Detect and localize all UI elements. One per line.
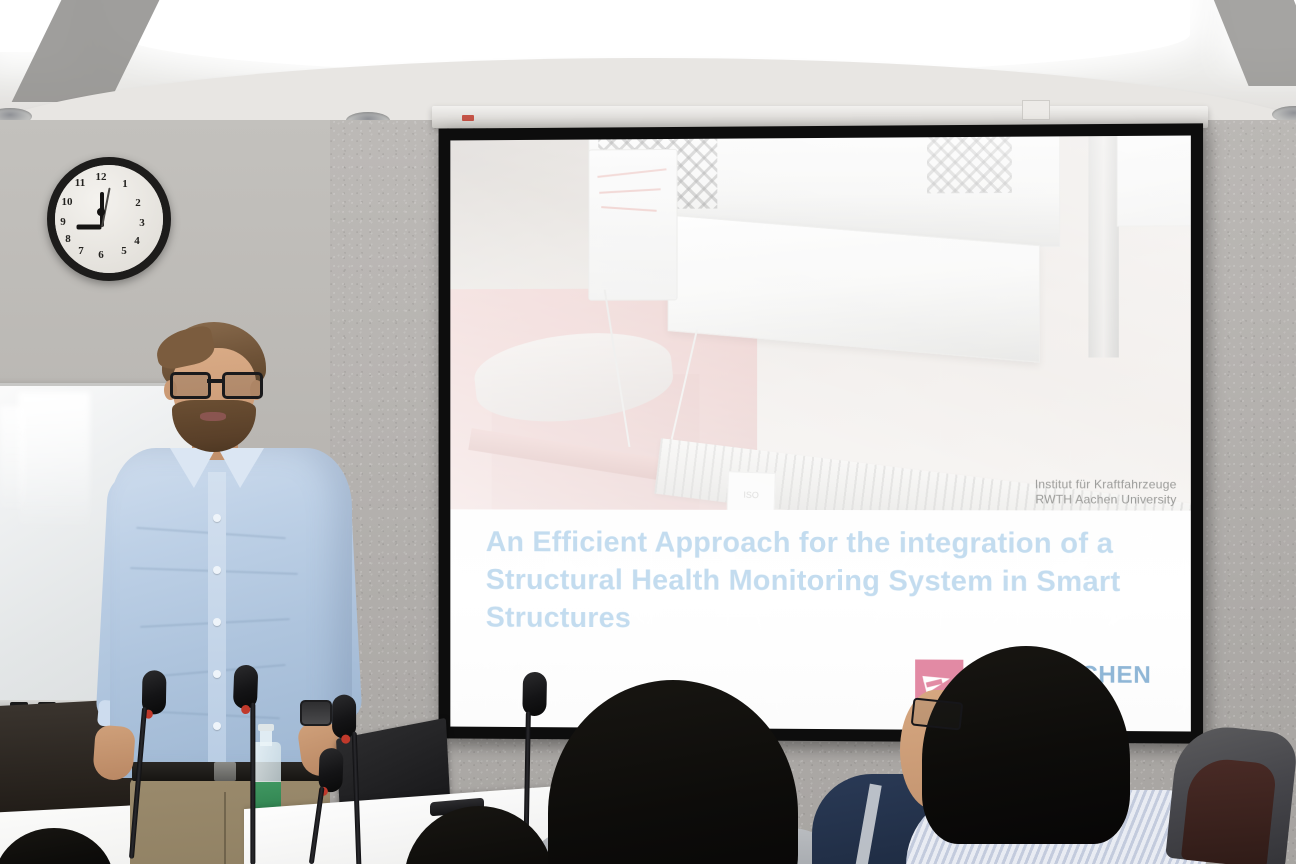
presenter-beard bbox=[172, 400, 256, 452]
eyeglass-lens-right bbox=[222, 372, 263, 399]
clock-numeral: 11 bbox=[72, 177, 88, 190]
clock-hour-hand bbox=[77, 225, 102, 230]
clock-numeral: 3 bbox=[134, 217, 150, 230]
microphone-gooseneck bbox=[309, 786, 325, 864]
clock-numeral: 12 bbox=[93, 171, 109, 184]
clock-center-pin bbox=[97, 208, 105, 216]
presentation-slide: ISO Institut für Kraftfahrzeuge RWTH Aac… bbox=[450, 136, 1191, 732]
shirt-button bbox=[213, 514, 221, 522]
microphone-gooseneck bbox=[352, 732, 362, 864]
eyeglass-lens-left bbox=[170, 372, 211, 399]
microphone-gooseneck bbox=[250, 703, 255, 864]
microphone-windscreen bbox=[522, 672, 547, 716]
projection-screen-surface: ISO Institut für Kraftfahrzeuge RWTH Aac… bbox=[450, 136, 1191, 732]
shirt-button bbox=[213, 566, 221, 574]
ceiling-beam-right bbox=[1211, 0, 1296, 86]
clock-numeral: 7 bbox=[73, 245, 89, 258]
whiteboard-glare bbox=[18, 392, 90, 532]
conference-room-photo: 12 1 2 3 4 5 6 7 8 9 10 11 bbox=[0, 0, 1296, 864]
affiliation-institute: Institut für Kraftfahrzeuge bbox=[1035, 478, 1177, 493]
microphone-gooseneck bbox=[129, 707, 147, 859]
microphone-accent-ring bbox=[341, 734, 351, 744]
whiteboard-glare bbox=[0, 406, 26, 516]
wall-clock: 12 1 2 3 4 5 6 7 8 9 10 11 bbox=[47, 157, 171, 281]
shirt-button bbox=[213, 722, 221, 730]
eyeglass-lens bbox=[911, 697, 964, 730]
clock-numeral: 5 bbox=[116, 245, 132, 258]
clock-numeral: 1 bbox=[117, 178, 133, 191]
slide-affiliation: Institut für Kraftfahrzeuge RWTH Aachen … bbox=[1035, 478, 1177, 508]
housing-indicator bbox=[462, 115, 474, 121]
shirt-button bbox=[213, 618, 221, 626]
clock-numeral: 9 bbox=[55, 216, 71, 229]
clock-numeral: 6 bbox=[93, 249, 109, 262]
projection-screen: ISO Institut für Kraftfahrzeuge RWTH Aac… bbox=[439, 123, 1203, 743]
housing-mount-bracket bbox=[1022, 100, 1050, 120]
shirt-button bbox=[213, 670, 221, 678]
clock-numeral: 10 bbox=[59, 196, 75, 209]
slide-title: An Efficient Approach for the integratio… bbox=[486, 524, 1157, 640]
eyeglasses-icon bbox=[168, 372, 262, 393]
slide-photo: ISO bbox=[450, 136, 1191, 511]
microphone-accent-ring bbox=[241, 705, 251, 715]
affiliation-university: RWTH Aachen University bbox=[1035, 493, 1177, 508]
eyeglasses-icon bbox=[912, 700, 986, 724]
clock-numeral: 8 bbox=[60, 233, 76, 246]
presenter-mouth bbox=[200, 412, 226, 421]
trouser-seam bbox=[224, 792, 226, 864]
eyeglass-bridge bbox=[207, 379, 223, 383]
clock-numeral: 2 bbox=[130, 197, 146, 210]
photo-overexposure-wash bbox=[450, 136, 1191, 511]
